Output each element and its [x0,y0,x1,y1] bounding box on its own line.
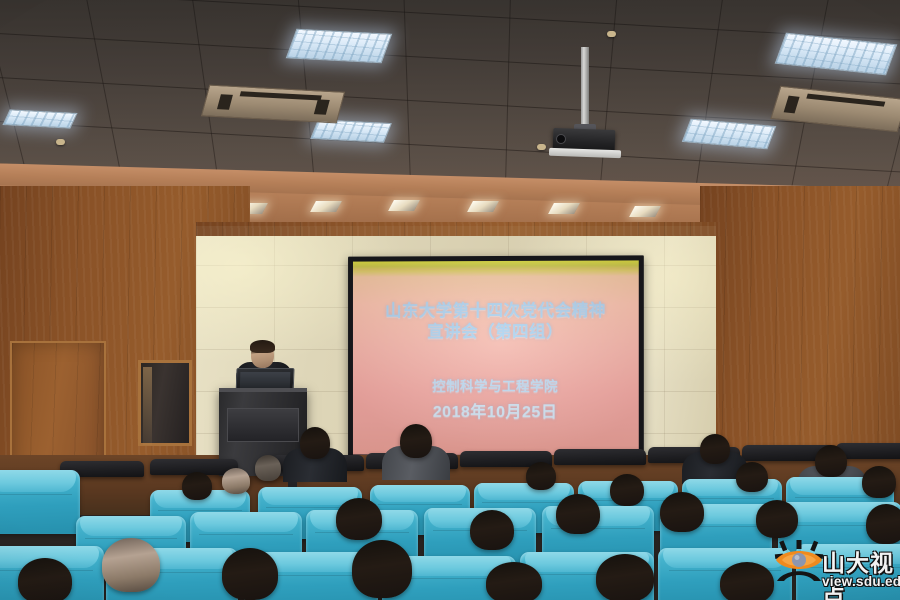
attendee-head [700,434,730,464]
projection-screen: 山东大学第十四次党代会精神 宣讲会（第四组） 控制科学与工程学院 2018年10… [353,260,639,455]
attendee-head [610,474,644,506]
ceiling-light-panel [286,29,393,64]
attendee-head [336,498,382,540]
attendee-head [486,562,542,600]
attendee-head [756,500,798,538]
attendee-head [18,558,72,600]
watermark: 山大视点 view.sdu.edu.cn [772,538,898,598]
watermark-brand: 山大视点 [822,544,898,600]
ceiling-light-panel [310,119,392,142]
attendee-head [660,492,704,532]
attendee-head [222,468,250,494]
attendee-head [556,494,600,534]
attendee-head [815,445,847,477]
projection-screen-frame: 山东大学第十四次党代会精神 宣讲会（第四组） 控制科学与工程学院 2018年10… [348,255,644,461]
presenter-hair [250,340,275,353]
attendee-head [300,427,330,459]
attendee-head [470,510,514,550]
auditorium-photo: 山东大学第十四次党代会精神 宣讲会（第四组） 控制科学与工程学院 2018年10… [0,0,900,600]
attendee-head [736,462,768,492]
attendee-head [400,424,432,458]
attendee-head [352,540,412,598]
attendee-head [182,472,212,500]
attendee-head [255,455,281,481]
watermark-url: view.sdu.edu.cn [822,574,900,589]
projector-mount-pole [581,47,589,125]
smoke-detector-icon [56,139,65,145]
wall-upper-band [196,222,716,236]
eye-gear-logo-icon [774,540,824,582]
auditorium-seat [0,470,80,534]
attendee-head [102,538,160,592]
attendee-head [720,562,774,600]
smoke-detector-icon [607,31,616,37]
smoke-detector-icon [537,144,546,150]
attendee-head [596,554,654,600]
attendee-head [526,462,556,490]
projector-lens-icon [556,134,566,144]
attendee-head [862,466,896,498]
attendee-head [222,548,278,600]
front-row-seatback [554,449,646,465]
